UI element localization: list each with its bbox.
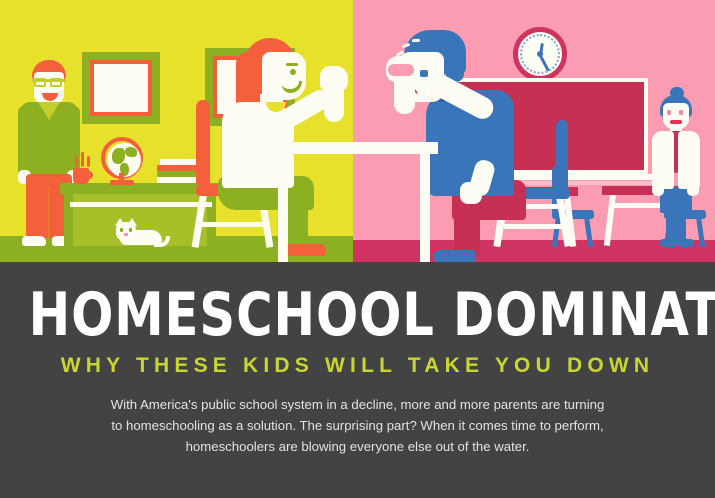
cat-eye-left — [120, 228, 123, 232]
illustration-band — [0, 0, 715, 262]
picture-frame-icon — [82, 52, 160, 124]
table-top — [270, 142, 438, 154]
table-leg-left — [278, 154, 288, 262]
globe-sphere — [107, 143, 141, 177]
clock-center-pin — [537, 51, 543, 57]
headline-section: HOMESCHOOL DOMINATION WHY THESE KIDS WIL… — [0, 262, 715, 498]
teacher-eye-left — [667, 110, 671, 115]
mug-handle — [86, 171, 93, 179]
infographic-root: HOMESCHOOL DOMINATION WHY THESE KIDS WIL… — [0, 0, 715, 498]
paragraph-line: homeschoolers are blowing everyone else … — [62, 436, 654, 457]
globe-icon — [98, 137, 146, 184]
cardigan-button — [674, 159, 678, 163]
table-leg-right — [420, 154, 430, 262]
boy-hand-lower — [460, 182, 482, 204]
girl-eye — [290, 69, 296, 75]
teacher-figure — [648, 87, 704, 247]
paragraph-line: With America's public school system in a… — [62, 394, 654, 415]
teacher-shoe-right — [678, 239, 694, 247]
arm-wrestling-table — [270, 142, 438, 262]
chair-leg — [556, 196, 572, 246]
page-title: HOMESCHOOL DOMINATION — [29, 262, 687, 344]
teacher-mouth — [670, 120, 682, 124]
parent-shoe-left — [22, 236, 46, 246]
cat-nose — [124, 233, 128, 236]
coffee-mug-icon — [73, 168, 93, 184]
parent-pants-seam — [48, 186, 50, 238]
cardigan-button — [674, 169, 678, 173]
boy-shoe — [434, 250, 476, 262]
cat-head — [116, 222, 136, 241]
glasses-lens-left — [34, 78, 46, 87]
strain-mark-icon — [412, 39, 420, 43]
cat-icon — [108, 218, 170, 248]
globe-landmass — [112, 148, 125, 164]
paragraph-line: to homeschooling as a solution. The surp… — [62, 415, 654, 436]
teacher-cardigan-left — [652, 131, 674, 189]
teacher-eye-right — [679, 110, 683, 115]
teacher-hand-left — [652, 183, 664, 196]
teacher-hand-right — [687, 183, 699, 196]
frame-mat — [94, 64, 148, 112]
globe-landmass — [125, 147, 137, 157]
teacher-cardigan-right — [678, 131, 700, 189]
boy-eye — [420, 70, 428, 77]
teacher-shoe-left — [660, 239, 676, 247]
steam-icon — [74, 152, 92, 168]
boy-fist-shadow — [388, 64, 414, 76]
parent-vneck — [38, 102, 60, 120]
globe-base — [110, 180, 134, 185]
chair-back — [556, 120, 568, 192]
intro-paragraph: With America's public school system in a… — [62, 378, 654, 457]
desk-shelf — [70, 202, 212, 207]
girl-fist — [320, 66, 348, 92]
girl-eyebrow — [286, 63, 298, 66]
girl-face — [262, 52, 306, 100]
glasses-lens-right — [50, 78, 62, 87]
cat-eye-right — [129, 228, 132, 232]
